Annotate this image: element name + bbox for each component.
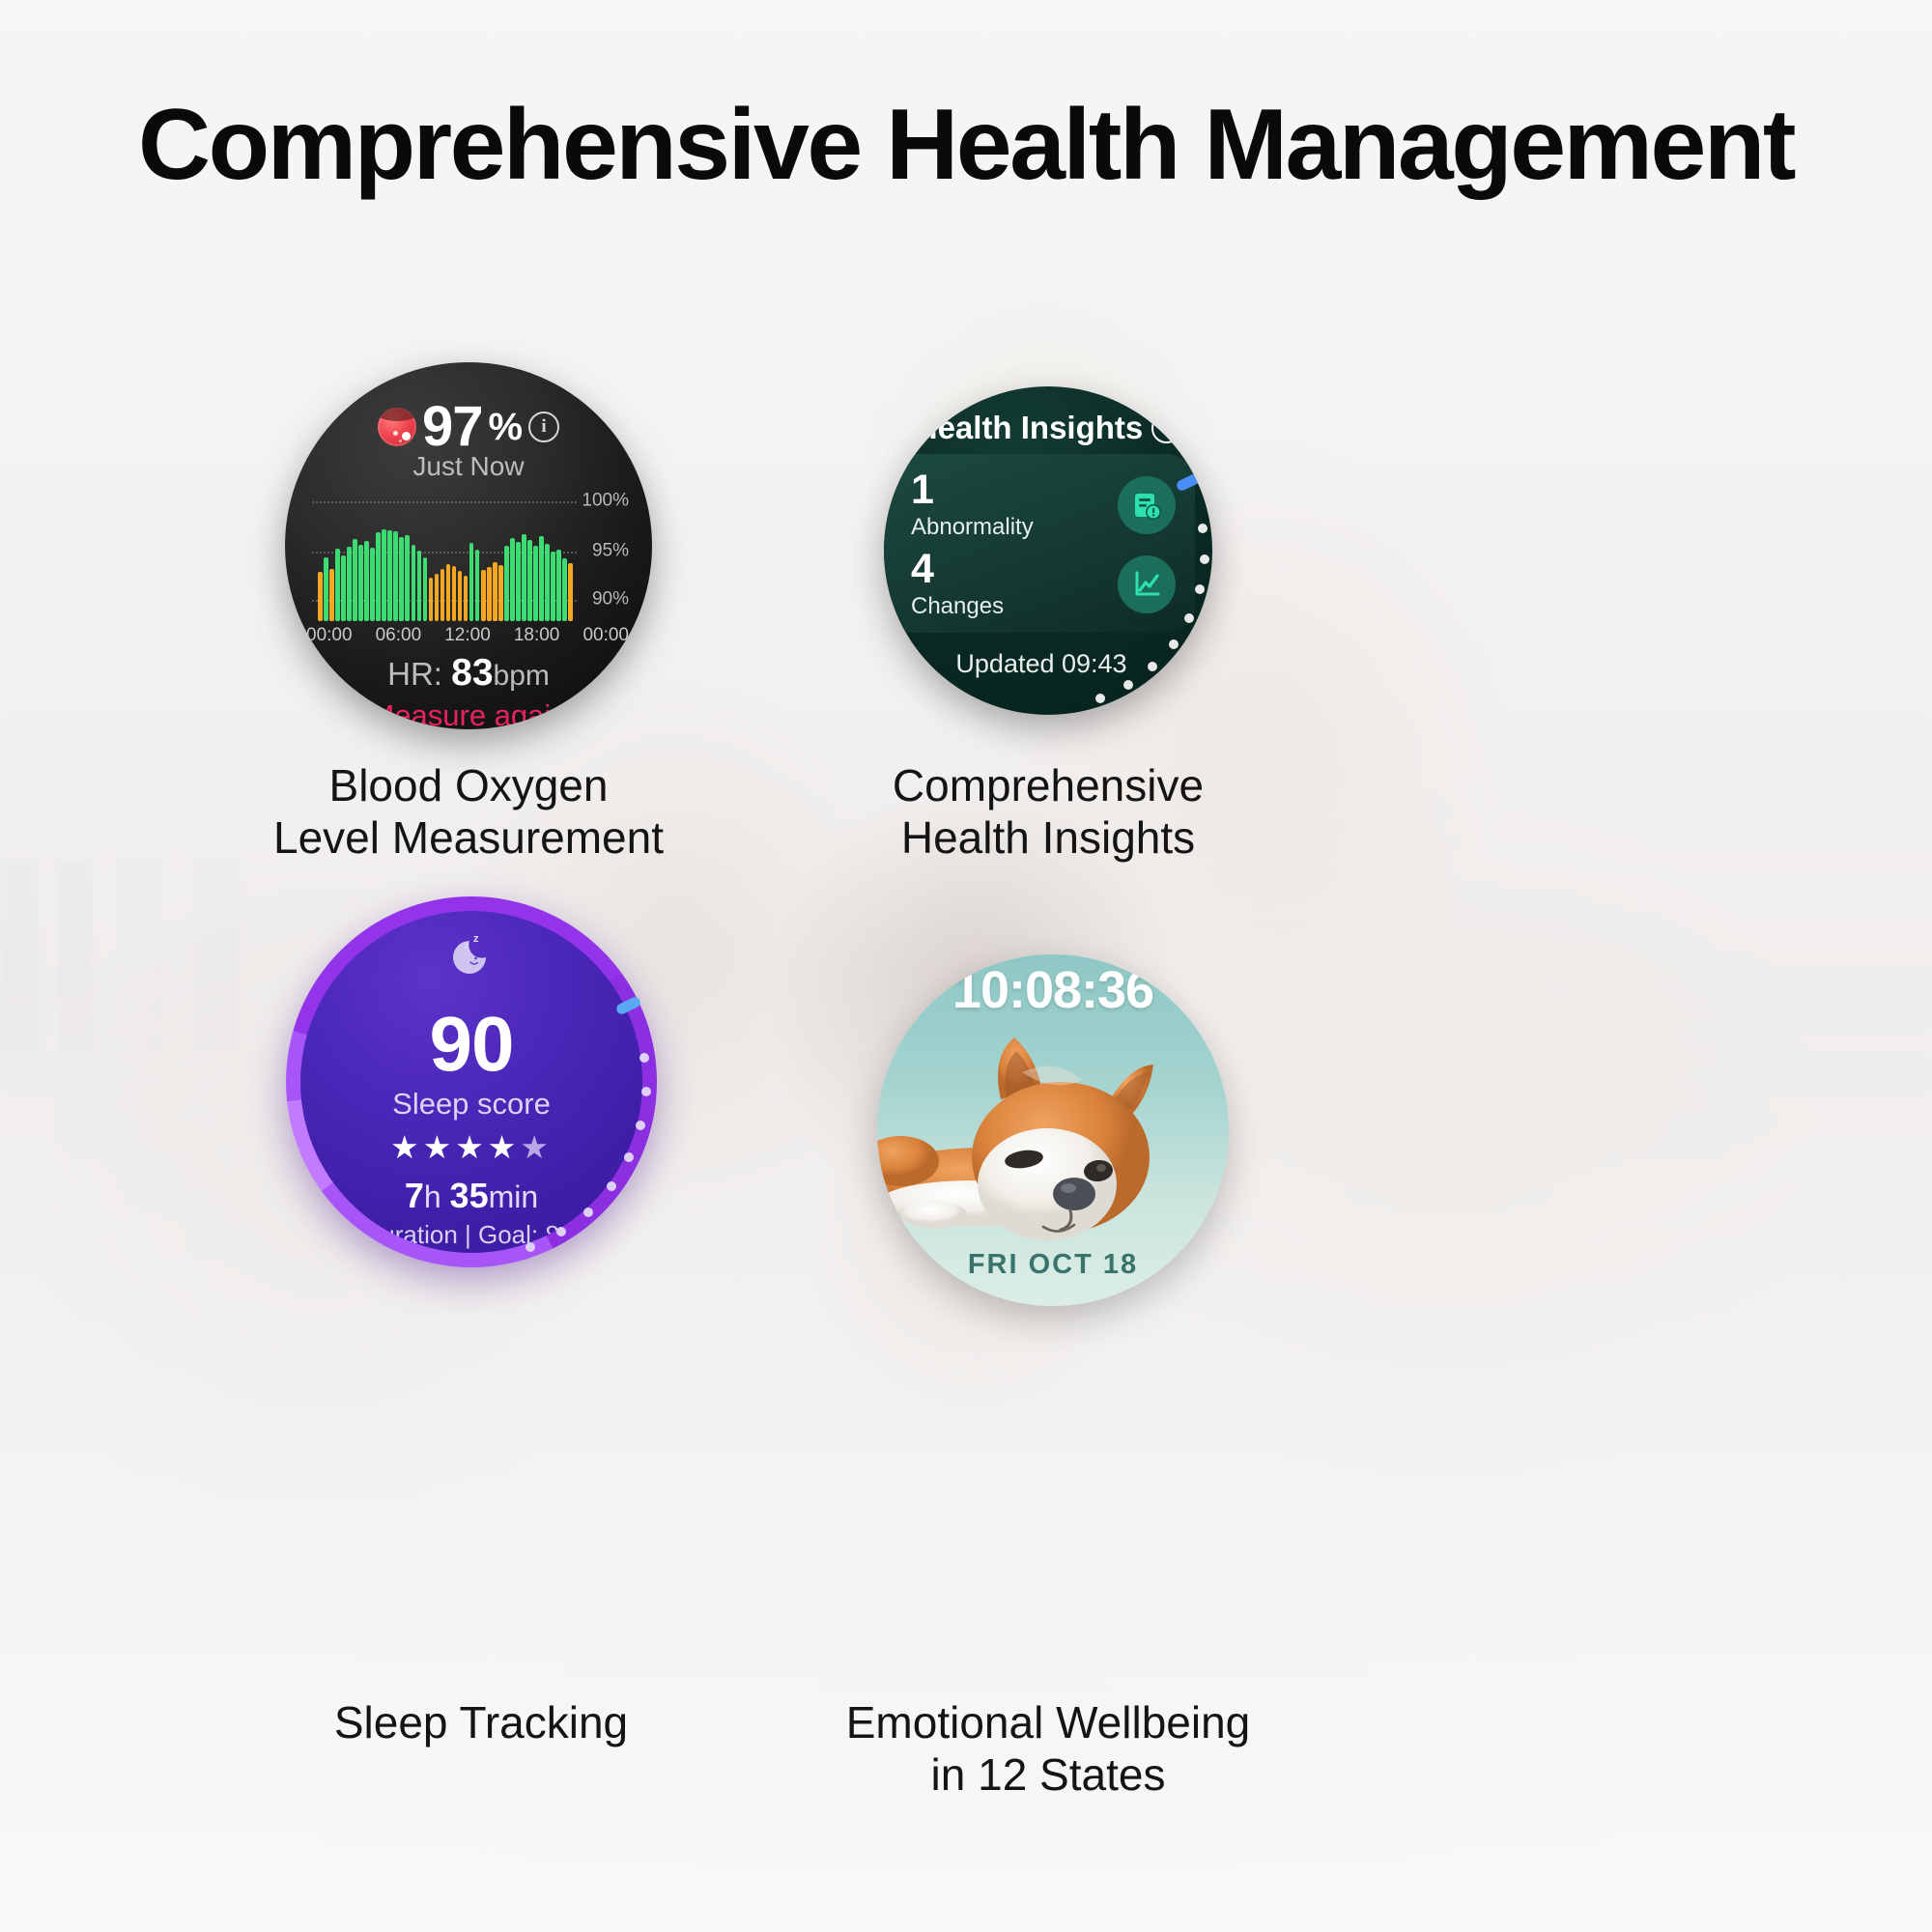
hr-value: 83 — [451, 652, 493, 694]
xtick-label: 18:00 — [514, 625, 560, 646]
document-alert-icon — [1118, 476, 1176, 534]
chart-bar — [341, 555, 346, 621]
xtick-label: 00:00 — [582, 625, 629, 646]
chart-bar — [440, 569, 445, 621]
chart-bar — [335, 549, 340, 621]
chart-bar — [504, 546, 509, 621]
spo2-bar-series — [318, 505, 573, 621]
heart-rate-readout: HR: 83bpm — [285, 652, 652, 695]
chart-bar — [487, 567, 492, 621]
spo2-x-axis: 00:00 06:00 12:00 18:00 00:00 — [306, 625, 629, 646]
chart-bar — [382, 529, 386, 621]
changes-count: 4 — [911, 549, 1004, 590]
abnormality-count: 1 — [911, 469, 1034, 511]
chart-bar — [370, 548, 375, 621]
chart-bar — [358, 545, 363, 621]
chart-bar — [329, 569, 334, 621]
emotional-wellbeing-watch-face: 10:08:36 — [877, 954, 1229, 1306]
chart-bar — [446, 564, 451, 621]
chart-bar — [510, 538, 515, 621]
sleep-minutes-unit: min — [489, 1179, 539, 1214]
chart-bar — [405, 535, 410, 621]
ytick-label: 95% — [592, 541, 629, 562]
chart-bar — [475, 550, 480, 621]
sleep-hours-unit: h — [424, 1179, 441, 1214]
health-insights-title: Health Insights — [915, 410, 1144, 446]
chart-bar — [545, 544, 550, 621]
watch-health-insights[interactable]: Health Insights i 1 Abnormality — [884, 386, 1212, 715]
chart-bar — [539, 536, 544, 621]
health-insights-watch-face: Health Insights i 1 Abnormality — [884, 386, 1212, 715]
star-half: ★ — [520, 1129, 553, 1165]
chart-bar — [516, 542, 521, 621]
info-icon[interactable]: i — [528, 412, 559, 442]
chart-bar — [435, 574, 440, 621]
corgi-dog-illustration — [877, 1014, 1229, 1246]
sleep-duration: 7h 35min — [300, 1176, 642, 1216]
svg-text:z: z — [473, 933, 479, 945]
watch-blood-oxygen[interactable]: 97 % i Just Now 100% 95% 90% 00:00 06:00… — [285, 362, 652, 729]
chart-bar — [399, 537, 404, 621]
page-title: Comprehensive Health Management — [0, 87, 1932, 204]
insight-row-changes[interactable]: 4 Changes — [911, 549, 1176, 620]
spo2-percent-sign: % — [488, 408, 523, 446]
chart-bar — [568, 563, 573, 621]
sleep-rating-stars: ★★★★★ — [300, 1131, 642, 1163]
hr-unit: bpm — [494, 660, 550, 692]
insight-row-abnormality[interactable]: 1 Abnormality — [911, 469, 1176, 541]
health-insights-panel[interactable]: 1 Abnormality 4 — [884, 454, 1195, 633]
scroll-dot — [1198, 524, 1207, 533]
last-updated-time: Updated 09:43 — [884, 649, 1199, 679]
chart-bar — [452, 566, 457, 621]
ytick-label: 100% — [582, 491, 629, 512]
chart-bar — [376, 532, 381, 621]
chart-bar — [423, 557, 428, 621]
ytick-label: 90% — [592, 589, 629, 611]
trend-chart-icon — [1118, 555, 1176, 613]
sleep-minutes: 35 — [450, 1176, 489, 1215]
xtick-label: 06:00 — [376, 625, 422, 646]
spo2-chart: 100% 95% 90% — [312, 497, 629, 621]
chart-bar — [464, 576, 469, 621]
chart-bar — [498, 565, 503, 621]
caption-health-insights: Comprehensive Health Insights — [681, 759, 1415, 865]
chart-bar — [318, 572, 323, 621]
sleep-score-value: 90 — [300, 1006, 642, 1083]
star-full: ★ — [455, 1129, 488, 1165]
star-full: ★ — [390, 1129, 423, 1165]
star-full: ★ — [488, 1129, 521, 1165]
blood-drop-icon — [378, 408, 416, 446]
chart-bar — [562, 558, 567, 621]
chart-bar — [417, 551, 422, 621]
scroll-dot — [1195, 584, 1205, 594]
star-full: ★ — [423, 1129, 456, 1165]
chart-bar — [533, 546, 538, 621]
chart-bar — [522, 534, 526, 621]
chart-bar — [429, 578, 434, 621]
chart-bar — [353, 539, 357, 621]
sleep-watch-face: z z 90 Sleep score ★★★★★ 7h 35min Durati… — [300, 911, 642, 1253]
spo2-value: 97 — [422, 399, 483, 455]
watch-emotional-wellbeing[interactable]: 10:08:36 — [877, 954, 1229, 1306]
chart-bar — [324, 557, 328, 621]
chart-bar — [556, 550, 561, 621]
chart-bar — [364, 541, 369, 621]
abnormality-label: Abnormality — [911, 514, 1034, 541]
scroll-dot — [1200, 554, 1209, 564]
chart-bar — [469, 543, 474, 621]
xtick-label: 00:00 — [306, 625, 353, 646]
sleeping-moon-icon: z z — [441, 932, 501, 992]
chart-bar — [387, 530, 392, 621]
chart-bar — [481, 570, 486, 621]
chart-bar — [393, 531, 398, 621]
scroll-dot — [1169, 639, 1179, 649]
watch-date: FRI OCT 18 — [877, 1249, 1229, 1281]
watch-time: 10:08:36 — [877, 960, 1229, 1020]
chart-bar — [527, 540, 532, 621]
scroll-dot — [1095, 694, 1105, 703]
caption-emotional-wellbeing: Emotional Wellbeing in 12 States — [681, 1696, 1415, 1802]
chart-bar — [551, 552, 555, 621]
changes-label: Changes — [911, 593, 1004, 620]
chart-bar — [347, 547, 352, 621]
spo2-timestamp: Just Now — [285, 451, 652, 482]
scroll-dot — [1123, 680, 1133, 690]
chart-bar — [458, 571, 463, 621]
watch-sleep-tracking[interactable]: z z 90 Sleep score ★★★★★ 7h 35min Durati… — [286, 896, 657, 1267]
svg-text:z: z — [465, 941, 469, 951]
xtick-label: 12:00 — [444, 625, 491, 646]
blood-oxygen-reading-row: 97 % i — [285, 399, 652, 455]
sleep-goal-line: Duration | Goal: 8 h — [300, 1220, 642, 1250]
blood-oxygen-watch-face: 97 % i Just Now 100% 95% 90% 00:00 06:00… — [285, 362, 652, 729]
info-icon[interactable]: i — [1151, 413, 1181, 443]
sleep-score-label: Sleep score — [300, 1087, 642, 1122]
chart-bar — [493, 562, 497, 621]
health-insights-title-row: Health Insights i — [884, 410, 1212, 446]
hr-label: HR: — [387, 656, 442, 692]
measure-again-button[interactable]: Measure again — [285, 698, 652, 729]
sleep-hours: 7 — [405, 1176, 424, 1215]
chart-bar — [412, 545, 416, 621]
